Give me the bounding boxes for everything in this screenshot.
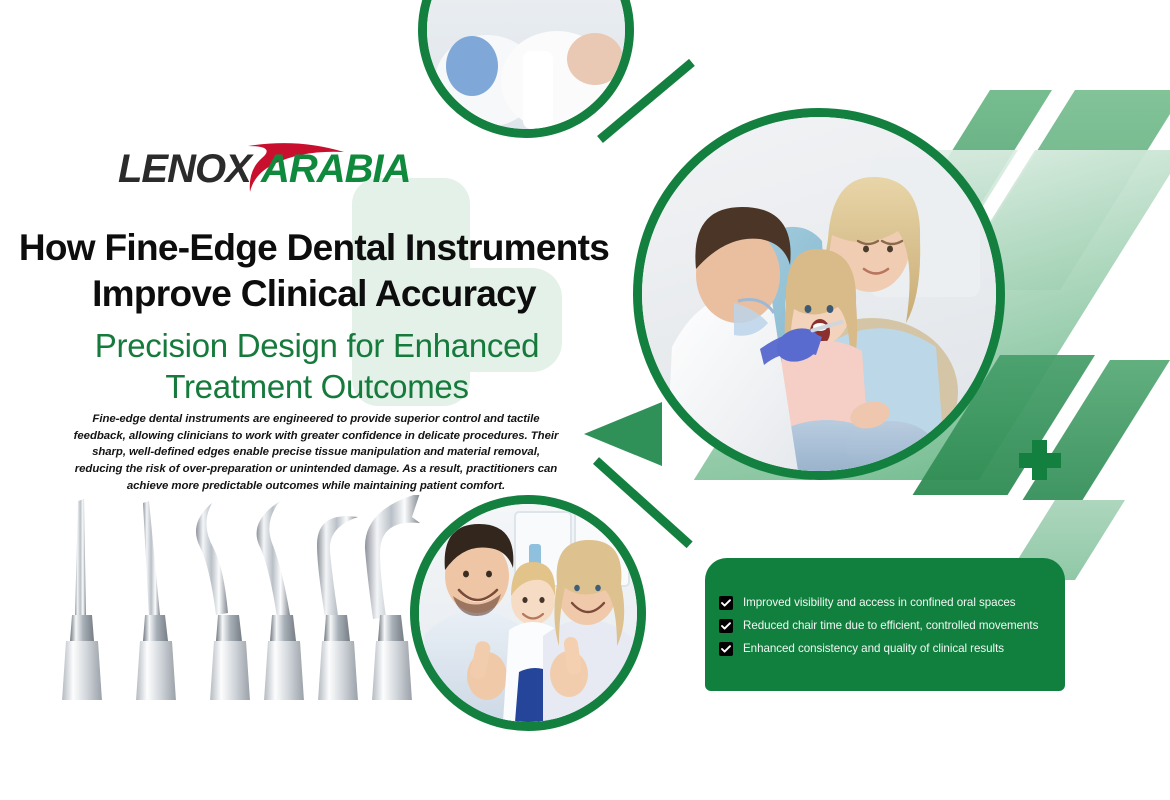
- smiling-family-thumbs-up-photo: [419, 504, 637, 722]
- medical-plus-icon: [1019, 440, 1061, 480]
- logo-text-lenox: LENOX: [118, 147, 254, 191]
- main-photo-circle: [633, 108, 1005, 480]
- dental-instruments-image: [40, 495, 430, 700]
- body-paragraph: Fine-edge dental instruments are enginee…: [70, 411, 562, 495]
- instrument-5: [317, 516, 358, 700]
- check-icon: [719, 619, 733, 633]
- instrument-2: [136, 501, 176, 700]
- benefit-label: Improved visibility and access in confin…: [743, 596, 1015, 610]
- benefit-label: Enhanced consistency and quality of clin…: [743, 642, 1004, 656]
- poster-canvas: LENOX ARABIA How Fine-Edge Dental Instru…: [0, 0, 1170, 800]
- dental-treatment-closeup-photo: [427, 0, 625, 129]
- dentist-examining-child-with-mother-photo: [642, 117, 996, 471]
- instrument-3: [196, 503, 250, 700]
- check-icon: [719, 596, 733, 610]
- list-item: Reduced chair time due to efficient, con…: [719, 619, 1065, 633]
- top-photo-circle: [418, 0, 634, 138]
- subheadline-line-2: Treatment Outcomes: [42, 366, 592, 407]
- headline-line-1: How Fine-Edge Dental Instruments: [0, 225, 628, 271]
- headline-line-2: Improve Clinical Accuracy: [0, 271, 628, 317]
- list-item: Improved visibility and access in confin…: [719, 596, 1065, 610]
- family-photo-circle: [410, 495, 646, 731]
- brand-logo: LENOX ARABIA: [118, 140, 418, 198]
- instrument-1: [62, 499, 102, 700]
- benefits-panel: Improved visibility and access in confin…: [705, 558, 1065, 691]
- logo-text-arabia: ARABIA: [260, 147, 411, 191]
- page-subtitle: Precision Design for Enhanced Treatment …: [42, 325, 592, 407]
- subheadline-line-1: Precision Design for Enhanced: [42, 325, 592, 366]
- check-icon: [719, 642, 733, 656]
- list-item: Enhanced consistency and quality of clin…: [719, 642, 1065, 656]
- page-title: How Fine-Edge Dental Instruments Improve…: [0, 225, 628, 317]
- benefit-label: Reduced chair time due to efficient, con…: [743, 619, 1038, 633]
- instrument-4: [257, 501, 304, 700]
- instrument-6: [365, 495, 420, 700]
- plus-icon-bar-vertical: [1032, 440, 1047, 480]
